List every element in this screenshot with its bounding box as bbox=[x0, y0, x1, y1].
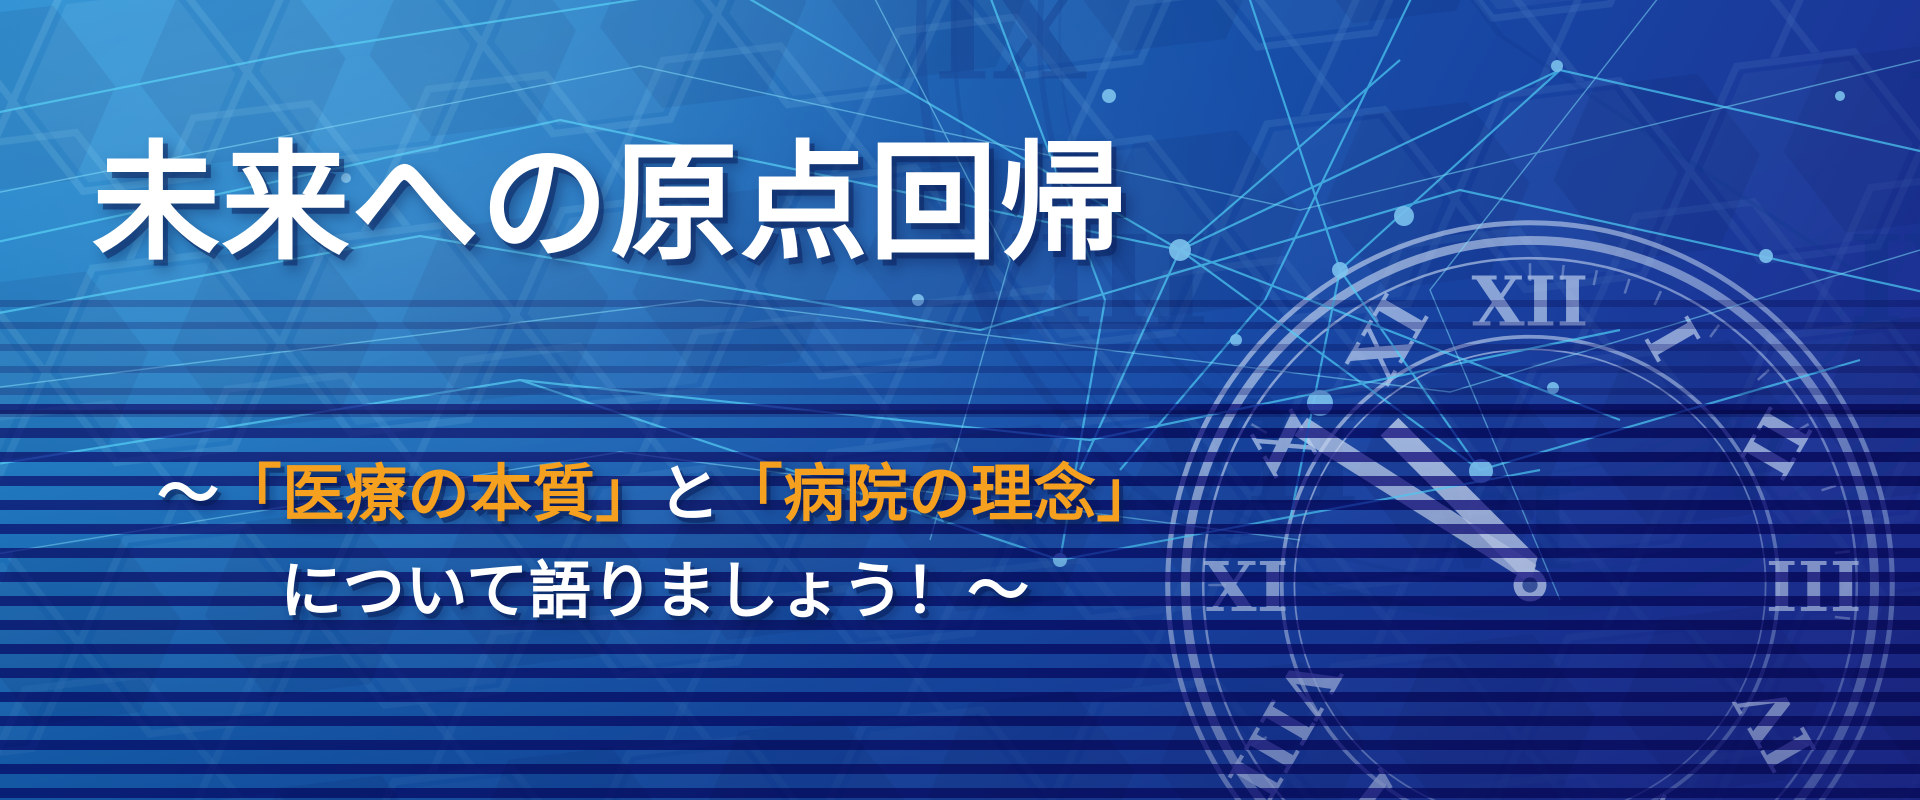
subtitle-closing-text: について語りましょう！〜 bbox=[280, 554, 1030, 627]
subtitle-tilde-open: 〜 bbox=[157, 457, 220, 530]
subtitle-quote-2: 「病院の理念」 bbox=[721, 457, 1159, 530]
subtitle-line-1: 〜「医療の本質」と「病院の理念」 bbox=[46, 452, 1270, 535]
banner-root: XII I II III IV V VI VII VIII IX X XI bbox=[0, 0, 1920, 800]
banner-content: 未来への原点回帰 〜「医療の本質」と「病院の理念」 について語りましょう！〜 bbox=[0, 0, 1920, 800]
subtitle-line-2: について語りましょう！〜 bbox=[40, 549, 1270, 632]
subtitle-conjunction: と bbox=[658, 457, 721, 530]
page-title: 未来への原点回帰 bbox=[92, 140, 1128, 268]
subtitle-block: 〜「医療の本質」と「病院の理念」 について語りましょう！〜 bbox=[0, 452, 1920, 632]
subtitle-quote-1: 「医療の本質」 bbox=[220, 457, 658, 530]
